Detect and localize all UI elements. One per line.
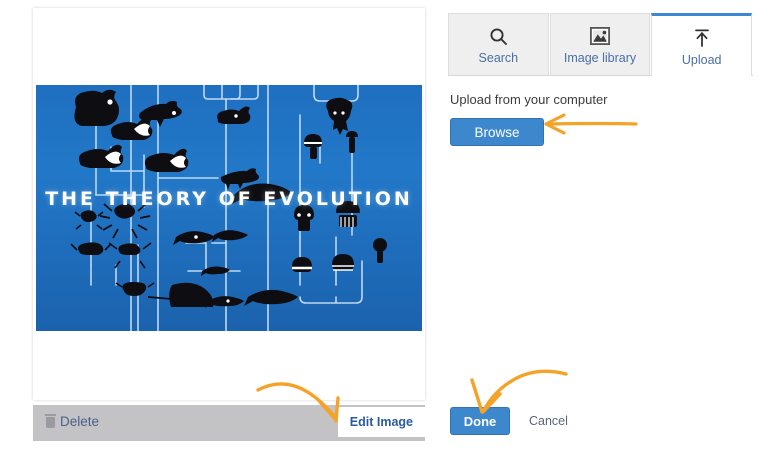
done-button[interactable]: Done <box>450 407 510 435</box>
dialog-action-row: Done Cancel <box>450 407 568 435</box>
delete-label: Delete <box>60 414 99 429</box>
tabstrip: Search Image library Uplo <box>448 13 753 76</box>
media-chooser-pane: Search Image library Uplo <box>448 13 753 146</box>
delete-button[interactable]: Delete <box>46 414 99 429</box>
image-preview-panel: THE THEORY OF EVOLUTION <box>33 8 425 400</box>
picture-icon <box>590 24 610 48</box>
upload-hint-text: Upload from your computer <box>450 92 753 107</box>
browse-button[interactable]: Browse <box>450 118 544 146</box>
trash-icon <box>46 417 55 428</box>
cancel-button[interactable]: Cancel <box>529 414 568 428</box>
tab-upload[interactable]: Upload <box>651 13 752 76</box>
upload-panel: Upload from your computer Browse <box>448 76 753 146</box>
tab-image-library[interactable]: Image library <box>550 13 651 75</box>
tab-search-label: Search <box>479 51 519 65</box>
image-actions-toolbar: Delete Edit Image <box>33 405 425 441</box>
evolution-infographic: THE THEORY OF EVOLUTION <box>36 85 422 331</box>
tab-search[interactable]: Search <box>448 13 549 75</box>
search-icon <box>489 24 508 48</box>
upload-arrow-icon <box>692 26 712 50</box>
tab-upload-label: Upload <box>682 53 722 67</box>
edit-image-button[interactable]: Edit Image <box>338 407 425 437</box>
tab-image-library-label: Image library <box>564 51 636 65</box>
image-preview[interactable]: THE THEORY OF EVOLUTION <box>36 85 422 331</box>
